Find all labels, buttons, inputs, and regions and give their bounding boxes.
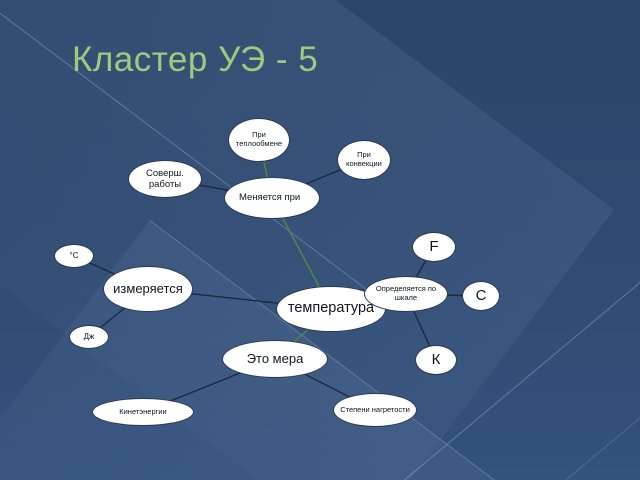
diagram-node-etomera[interactable]: Это мера [222, 340, 328, 378]
diagram-node-label: F [425, 238, 442, 256]
diagram-node-label: Степени нагретости [336, 406, 414, 415]
diagram-node-label: Кинетэнергии [115, 408, 170, 417]
diagram-node-label: Определяется по шкале [365, 285, 447, 303]
diagram-node-kinetenerg[interactable]: Кинетэнергии [92, 398, 194, 426]
diagram-node-scaleK[interactable]: К [415, 345, 457, 375]
diagram-node-label: температура [284, 300, 378, 317]
diagram-node-gradusc[interactable]: °С [54, 244, 94, 268]
slide-canvas: Кластер УЭ - 5 температураМеняется приПр… [0, 0, 640, 480]
diagram-node-stepennagr[interactable]: Степени нагретости [333, 393, 417, 427]
diagram-node-menyaetsya[interactable]: Меняется при [224, 177, 320, 219]
diagram-node-scaleF[interactable]: F [412, 232, 456, 262]
diagram-node-label: С [472, 287, 491, 305]
diagram-node-label: Это мера [243, 351, 308, 366]
diagram-node-izmeryaets[interactable]: измеряется [103, 266, 193, 312]
diagram-node-label: Соверш. работы [129, 168, 201, 190]
diagram-node-konvekcia[interactable]: При конвекции [337, 140, 391, 180]
diagram-node-teploobmen[interactable]: При теплообмене [228, 118, 290, 162]
diagram-node-label: измеряется [109, 281, 187, 296]
diagram-node-scaleC[interactable]: С [462, 281, 500, 311]
diagram-node-label: Дж [80, 332, 99, 341]
diagram-node-label: Меняется при [225, 192, 304, 203]
diagram-node-label: При теплообмене [229, 131, 289, 149]
diagram-node-sovershrab[interactable]: Соверш. работы [128, 160, 202, 198]
diagram-node-dzh[interactable]: Дж [69, 325, 109, 349]
diagram-node-label: К [428, 351, 445, 369]
diagram-node-label: °С [66, 251, 83, 260]
diagram-node-label: При конвекции [338, 151, 390, 169]
diagram-node-opredel[interactable]: Определяется по шкале [364, 276, 448, 312]
